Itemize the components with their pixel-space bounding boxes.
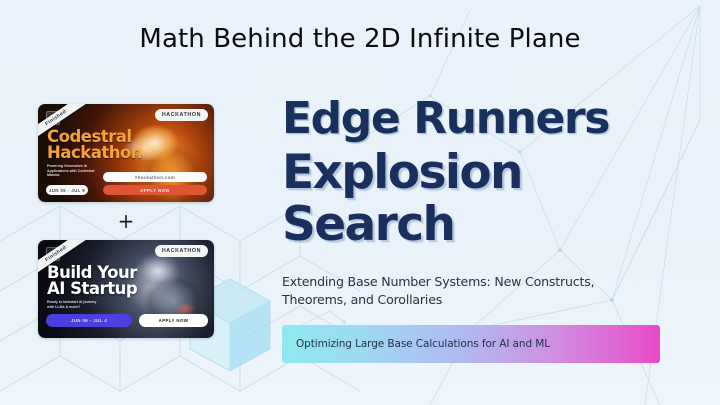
card-button-row: JUN 06 - JUL 4 APPLY NOW — [46, 308, 208, 332]
card-date-button[interactable]: JUN 06 - JUL 4 — [46, 314, 132, 327]
plus-icon: + — [38, 202, 214, 240]
badge-hackathon: HACKATHON — [155, 109, 208, 121]
hero-block: Edge Runners Explosion Search Extending … — [282, 95, 682, 363]
page-title: Math Behind the 2D Infinite Plane — [0, 22, 720, 56]
slide-canvas: Math Behind the 2D Infinite Plane Finish… — [0, 0, 720, 405]
badge-hackathon: HACKATHON — [155, 245, 208, 257]
hero-gradient-banner: Optimizing Large Base Calculations for A… — [282, 325, 660, 363]
card-apply-button[interactable]: APPLY NOW — [103, 185, 207, 195]
card-url-button[interactable]: #hackathon.com — [103, 172, 207, 182]
hero-title-line2: Explosion Search — [282, 147, 682, 251]
card-heading: Build Your AI Startup — [47, 265, 137, 297]
card-button-row: #hackathon.com JUN 05 - JUL 9 APPLY NOW — [46, 172, 208, 196]
hero-banner-text: Optimizing Large Base Calculations for A… — [282, 338, 550, 350]
card-heading-line2: Hackathon — [47, 145, 142, 161]
hero-subtitle: Extending Base Number Systems: New Const… — [282, 273, 612, 309]
card-build-your-ai-startup[interactable]: Finished HACKATHON Build Your AI Startup… — [38, 240, 214, 338]
card-apply-button[interactable]: APPLY NOW — [139, 314, 208, 327]
hackathon-cards-column: Finished HACKATHON Codestral Hackathon P… — [38, 104, 214, 338]
card-heading: Codestral Hackathon — [47, 129, 142, 161]
card-heading-line2: AI Startup — [47, 281, 137, 297]
card-codestral-hackathon[interactable]: Finished HACKATHON Codestral Hackathon P… — [38, 104, 214, 202]
hero-title-line1: Edge Runners — [282, 95, 682, 143]
card-date-button[interactable]: JUN 05 - JUL 9 — [46, 185, 88, 195]
